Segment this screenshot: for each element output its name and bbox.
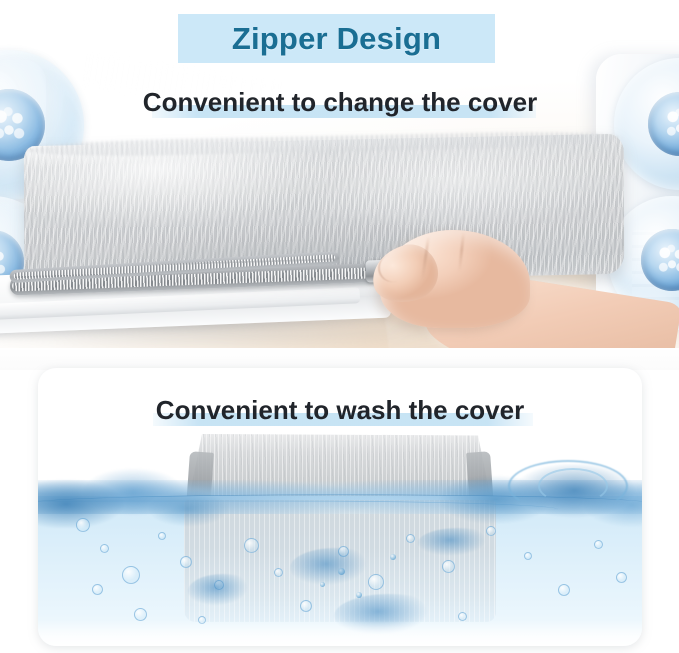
air-bubble bbox=[274, 568, 283, 577]
wash-cover-card: Convenient to wash the cover bbox=[38, 368, 642, 646]
water-foam bbox=[290, 548, 380, 588]
water-foam bbox=[418, 528, 498, 558]
air-bubble bbox=[524, 552, 532, 560]
air-bubble bbox=[100, 544, 109, 553]
air-bubble bbox=[180, 556, 192, 568]
wash-cover-subtitle: Convenient to wash the cover bbox=[120, 392, 560, 428]
air-bubble bbox=[158, 532, 166, 540]
change-cover-subtitle: Convenient to change the cover bbox=[120, 84, 560, 120]
water-foam bbox=[188, 574, 258, 608]
air-bubble bbox=[244, 538, 259, 553]
air-bubble bbox=[616, 572, 627, 583]
air-bubble bbox=[594, 540, 603, 549]
section-divider bbox=[0, 348, 679, 370]
page-title: Zipper Design bbox=[178, 14, 495, 63]
water-splash-left bbox=[38, 468, 234, 528]
air-bubble bbox=[300, 600, 312, 612]
air-bubble bbox=[442, 560, 455, 573]
air-bubble bbox=[92, 584, 103, 595]
change-cover-scene: Zipper Design Convenient to change the c… bbox=[0, 0, 679, 368]
air-bubble-dense bbox=[390, 554, 396, 560]
hand-icon bbox=[372, 228, 672, 368]
product-feature-image: Zipper Design Convenient to change the c… bbox=[0, 0, 679, 653]
air-bubble bbox=[76, 518, 90, 532]
air-bubble bbox=[122, 566, 140, 584]
card-bottom-fade bbox=[38, 620, 642, 646]
air-bubble bbox=[558, 584, 570, 596]
water-crest-arc bbox=[538, 468, 608, 504]
air-bubble bbox=[406, 534, 415, 543]
